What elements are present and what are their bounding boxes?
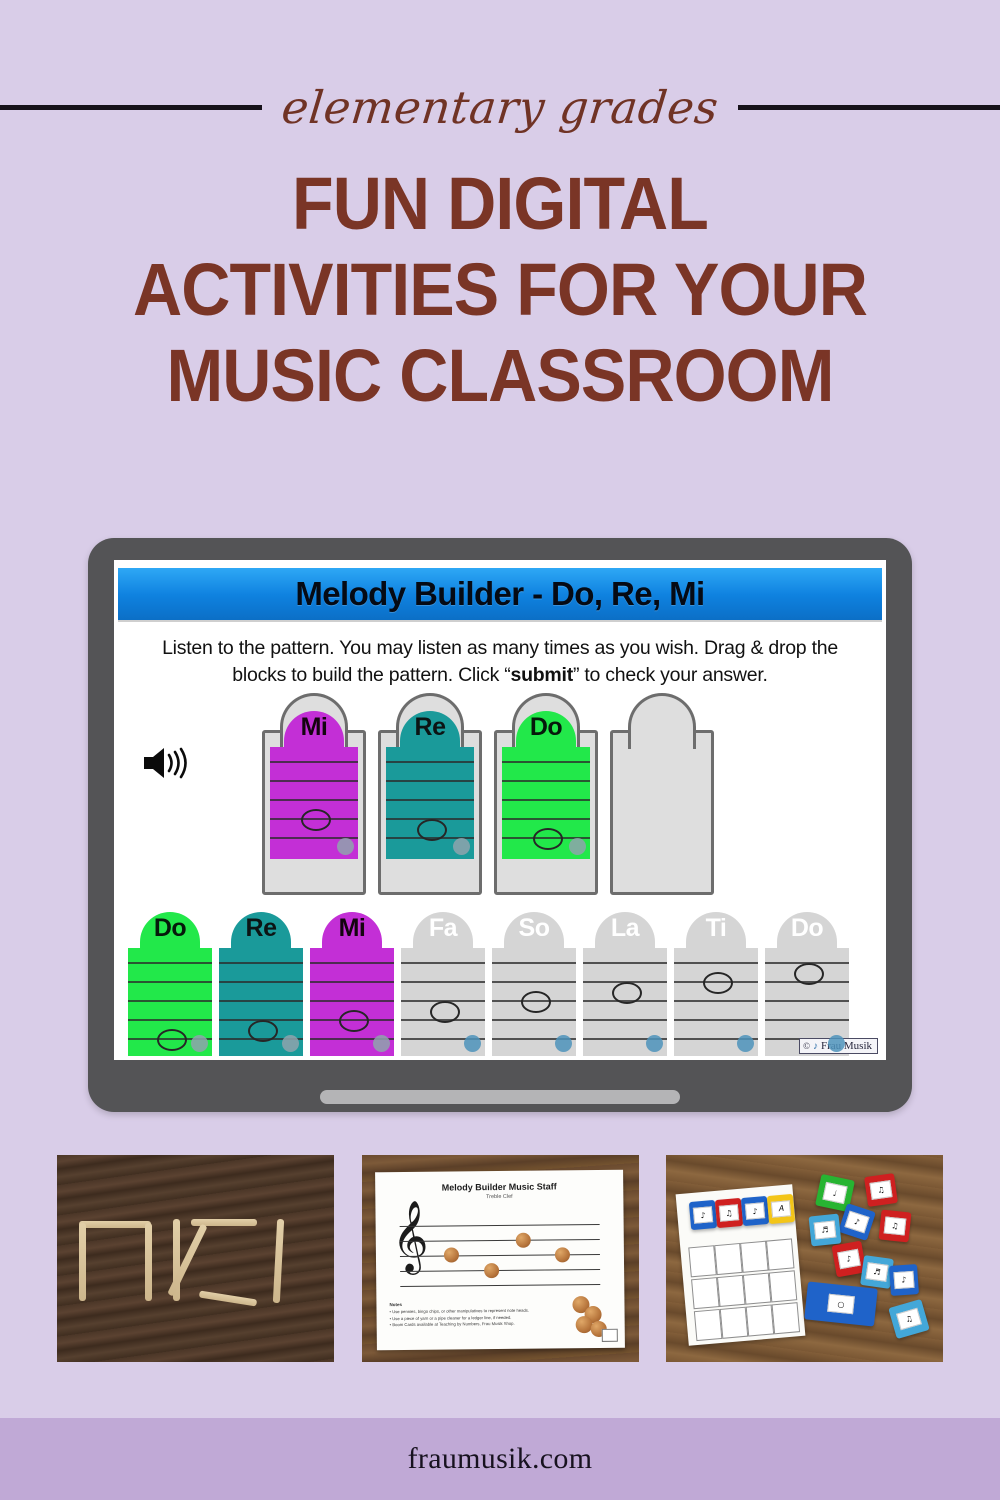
staff-line xyxy=(674,962,758,964)
staff-line xyxy=(386,799,474,801)
note-sticker: ♪ xyxy=(893,1271,914,1289)
penny-notehead xyxy=(484,1263,499,1278)
note-sticker: ♪ xyxy=(837,1249,861,1269)
staff-line xyxy=(765,1000,849,1002)
penny-pile xyxy=(575,1316,592,1333)
staff-line xyxy=(310,981,394,983)
instructions-bold-submit: submit xyxy=(511,664,573,686)
headline-line-3: MUSIC CLASSROOM xyxy=(40,340,960,412)
music-note-icon: ♪ xyxy=(813,1041,818,1052)
staff-line xyxy=(492,1019,576,1021)
grid-cell xyxy=(694,1309,723,1341)
eyebrow-text: elementary grades xyxy=(279,81,721,134)
block-body xyxy=(310,948,394,1056)
staff-line xyxy=(399,1224,599,1227)
block-label: Ti xyxy=(674,916,758,941)
note-sticker: 𝛢 xyxy=(771,1200,791,1218)
block-body xyxy=(492,948,576,1056)
app-instructions: Listen to the pattern. You may listen as… xyxy=(140,635,860,689)
block-body xyxy=(674,948,758,1056)
block-watermark-icon xyxy=(453,838,470,855)
rhythm-block: ♪ xyxy=(741,1196,769,1226)
note-sticker: ♫ xyxy=(719,1204,739,1222)
block-label: La xyxy=(583,916,667,941)
staff-line xyxy=(492,981,576,983)
block-body xyxy=(219,948,303,1056)
notehead xyxy=(533,828,563,850)
staff-line xyxy=(128,981,212,983)
page-title: FUN DIGITAL ACTIVITIES FOR YOUR MUSIC CL… xyxy=(40,168,960,425)
block-body xyxy=(270,747,358,859)
notehead xyxy=(794,963,824,985)
staff-line xyxy=(400,1269,600,1272)
craft-stick xyxy=(145,1223,152,1301)
staff-line xyxy=(270,799,358,801)
staff-line xyxy=(270,780,358,782)
melody-block-ti[interactable]: Ti xyxy=(674,912,758,1060)
staff-line xyxy=(400,1284,600,1287)
worksheet-paper: Melody Builder Music Staff Treble Clef 𝄞… xyxy=(375,1170,625,1351)
craft-stick xyxy=(79,1223,86,1301)
tablet-screen: Melody Builder - Do, Re, Mi Listen to th… xyxy=(114,560,886,1060)
wood-background xyxy=(57,1155,334,1362)
staff-line xyxy=(401,981,485,983)
staff-line xyxy=(386,780,474,782)
melody-block-so[interactable]: So xyxy=(492,912,576,1060)
grid-cell xyxy=(740,1241,769,1273)
staff-line xyxy=(219,1000,303,1002)
note-sticker: ♪ xyxy=(844,1211,869,1234)
footer-url: fraumusik.com xyxy=(408,1442,593,1476)
melody-block-mi[interactable]: Mi xyxy=(310,912,394,1060)
block-label: Re xyxy=(386,715,474,740)
rhythm-block: ○ xyxy=(804,1281,878,1326)
notehead xyxy=(157,1029,187,1051)
staff-line xyxy=(128,1019,212,1021)
block-watermark-icon xyxy=(646,1035,663,1052)
staff-line xyxy=(583,1019,667,1021)
block-watermark-icon xyxy=(555,1035,572,1052)
worksheet-stamp xyxy=(601,1329,617,1342)
grid-cell xyxy=(743,1273,772,1305)
staff-line xyxy=(128,1000,212,1002)
note-item: • Boom Cards available at Teaching by Nu… xyxy=(389,1321,539,1329)
notehead xyxy=(703,972,733,994)
app-title: Melody Builder - Do, Re, Mi xyxy=(295,575,704,613)
headline-line-1: FUN DIGITAL xyxy=(40,168,960,240)
block-watermark-icon xyxy=(737,1035,754,1052)
grid-cell xyxy=(766,1238,795,1270)
notehead xyxy=(339,1010,369,1032)
melody-block-re[interactable]: Re xyxy=(386,711,474,859)
craft-stick xyxy=(79,1221,151,1228)
block-watermark-icon xyxy=(464,1035,481,1052)
note-sticker: ♫ xyxy=(884,1216,907,1235)
staff-line xyxy=(502,780,590,782)
block-body xyxy=(583,948,667,1056)
block-label: Do xyxy=(128,916,212,941)
footer-band: fraumusik.com xyxy=(0,1418,1000,1500)
block-label: Do xyxy=(502,715,590,740)
block-body xyxy=(128,948,212,1056)
block-watermark-icon xyxy=(828,1035,845,1052)
app-title-bar: Melody Builder - Do, Re, Mi xyxy=(118,568,882,622)
penny-notehead xyxy=(515,1233,530,1248)
grid-cell xyxy=(688,1245,717,1277)
speaker-icon[interactable] xyxy=(142,744,192,782)
staff-line xyxy=(399,1239,599,1242)
notehead xyxy=(301,809,331,831)
block-label: Do xyxy=(765,916,849,941)
craft-sticks-rhythm-photo xyxy=(57,1155,334,1362)
block-label: Mi xyxy=(270,715,358,740)
melody-block-la[interactable]: La xyxy=(583,912,667,1060)
answer-slot-3[interactable]: Do xyxy=(494,730,598,895)
eyebrow-row: elementary grades xyxy=(0,72,1000,142)
staff-line xyxy=(310,962,394,964)
staff-line xyxy=(502,818,590,820)
staff-line xyxy=(502,799,590,801)
notehead xyxy=(521,991,551,1013)
staff-line xyxy=(502,761,590,763)
note-sticker: ♫ xyxy=(896,1308,922,1330)
answer-slot-4[interactable] xyxy=(610,730,714,895)
staff-line xyxy=(492,962,576,964)
rhythm-block: ♬ xyxy=(809,1214,842,1247)
copyright-icon: © xyxy=(803,1041,810,1051)
block-watermark-icon xyxy=(337,838,354,855)
block-watermark-icon xyxy=(373,1035,390,1052)
note-sticker: ♪ xyxy=(693,1206,713,1224)
note-sticker: ○ xyxy=(827,1294,855,1315)
block-body xyxy=(502,747,590,859)
grid-cell xyxy=(717,1275,746,1307)
tablet-home-bar xyxy=(320,1090,680,1104)
notes-heading: Notes xyxy=(389,1301,539,1308)
block-watermark-icon xyxy=(569,838,586,855)
melody-block-re[interactable]: Re xyxy=(219,912,303,1060)
penny-notehead xyxy=(443,1247,458,1262)
instructions-suffix: ” to check your answer. xyxy=(573,664,768,686)
palette-block-row: DoReMiFaSoLaTiDo xyxy=(128,912,849,1060)
staff-line xyxy=(583,962,667,964)
rhythm-block: ♫ xyxy=(864,1173,898,1207)
note-sticker: ♩ xyxy=(822,1182,847,1204)
photo-strip: Melody Builder Music Staff Treble Clef 𝄞… xyxy=(57,1155,943,1362)
melody-builder-staff-worksheet-photo: Melody Builder Music Staff Treble Clef 𝄞… xyxy=(362,1155,639,1362)
notehead xyxy=(248,1020,278,1042)
penny-notehead xyxy=(554,1247,569,1262)
staff-line xyxy=(401,962,485,964)
melody-block-do[interactable]: Do xyxy=(128,912,212,1060)
rhythm-blocks-photo: ♪ ♫ ♪ 𝛢 ♩ ♫ ♪ ♬ ♫ ♪ ♬ ♪ ○ ♫ xyxy=(666,1155,943,1362)
notehead xyxy=(612,982,642,1004)
grid-cell xyxy=(691,1277,720,1309)
notehead xyxy=(430,1001,460,1023)
block-watermark-icon xyxy=(191,1035,208,1052)
melody-block-mi[interactable]: Mi xyxy=(270,711,358,859)
grid-cell xyxy=(772,1302,801,1334)
melody-block-do[interactable]: Do xyxy=(502,711,590,859)
staff-line xyxy=(674,1019,758,1021)
worksheet-title: Melody Builder Music Staff xyxy=(375,1181,623,1194)
eyebrow-rule-left xyxy=(0,105,262,110)
note-sticker: ♬ xyxy=(865,1262,888,1282)
notehead xyxy=(417,819,447,841)
staff-line xyxy=(219,962,303,964)
headline-line-2: ACTIVITIES FOR YOUR xyxy=(40,254,960,326)
staff-line xyxy=(765,1019,849,1021)
rhythm-block: ♫ xyxy=(715,1198,743,1228)
block-label: Mi xyxy=(310,916,394,941)
rhythm-block: ♫ xyxy=(879,1210,912,1243)
answer-slot-row: MiReDo xyxy=(262,730,714,895)
block-body xyxy=(386,747,474,859)
staff-line xyxy=(270,761,358,763)
melody-block-fa[interactable]: Fa xyxy=(401,912,485,1060)
rhythm-block: 𝛢 xyxy=(767,1194,795,1224)
block-label: Re xyxy=(219,916,303,941)
block-body xyxy=(401,948,485,1056)
staff-line xyxy=(219,981,303,983)
grid-cell xyxy=(714,1243,743,1275)
staff-line xyxy=(674,1000,758,1002)
rhythm-block: ♪ xyxy=(689,1200,717,1230)
tablet-device: Melody Builder - Do, Re, Mi Listen to th… xyxy=(88,538,912,1112)
staff-line xyxy=(310,1000,394,1002)
staff-line xyxy=(128,962,212,964)
worksheet-notes: Notes • Use pennies, bingo chips, or oth… xyxy=(389,1301,539,1329)
staff-line xyxy=(386,761,474,763)
answer-slot-1[interactable]: Mi xyxy=(262,730,366,895)
rhythm-block: ♪ xyxy=(889,1264,919,1296)
block-label: So xyxy=(492,916,576,941)
grid-cell xyxy=(746,1304,775,1336)
note-sticker: ♪ xyxy=(745,1202,765,1220)
block-label: Fa xyxy=(401,916,485,941)
note-sticker: ♫ xyxy=(869,1180,892,1200)
block-watermark-icon xyxy=(282,1035,299,1052)
grid-cell xyxy=(769,1270,798,1302)
music-staff xyxy=(399,1224,600,1288)
answer-slot-2[interactable]: Re xyxy=(378,730,482,895)
note-sticker: ♬ xyxy=(814,1220,837,1239)
grid-cell xyxy=(720,1307,749,1339)
eyebrow-rule-right xyxy=(738,105,1000,110)
slot-dome xyxy=(628,693,696,749)
